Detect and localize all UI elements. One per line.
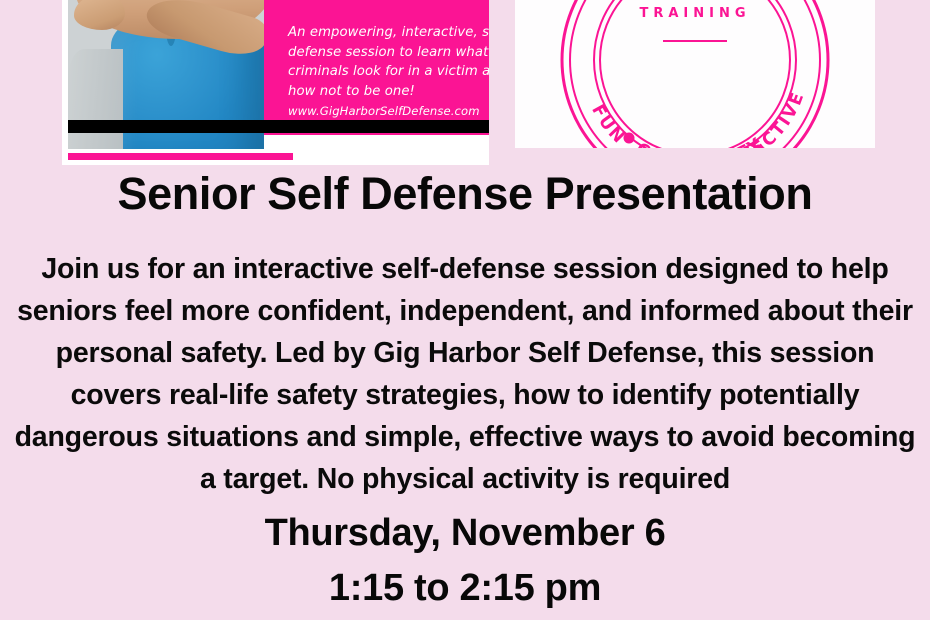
logo-card: FUN COMMUNITY EFFECTIVE SELF DEFENSE TRA…: [515, 0, 875, 148]
svg-text:FUN: FUN: [587, 101, 629, 148]
promo-pink-accent-bar: [68, 153, 293, 160]
event-time: 1:15 to 2:15 pm: [0, 564, 930, 612]
event-date: Thursday, November 6: [0, 509, 930, 557]
body-paragraph: Join us for an interactive self-defense …: [12, 248, 918, 500]
svg-text:EFFECTIVE: EFFECTIVE: [716, 88, 809, 148]
photo-hand: [74, 0, 125, 30]
promo-tagline: An empowering, interactive, self-defense…: [288, 23, 489, 101]
logo-subtitle: TRAINING: [545, 6, 845, 21]
photo-left-sleeve: [68, 49, 123, 149]
self-defense-training-logo: FUN COMMUNITY EFFECTIVE SELF DEFENSE TRA…: [545, 0, 845, 148]
promo-card: An empowering, interactive, self-defense…: [62, 0, 489, 165]
logo-divider-rule: [663, 40, 727, 42]
promo-website-url: www.GigHarborSelfDefense.com: [288, 104, 480, 118]
promo-pink-panel: An empowering, interactive, self-defense…: [264, 0, 489, 135]
flyer-poster: An empowering, interactive, self-defense…: [0, 0, 930, 620]
page-title: Senior Self Defense Presentation: [0, 166, 930, 222]
promo-black-bar: [68, 120, 489, 133]
media-strip: An empowering, interactive, self-defense…: [0, 0, 930, 166]
